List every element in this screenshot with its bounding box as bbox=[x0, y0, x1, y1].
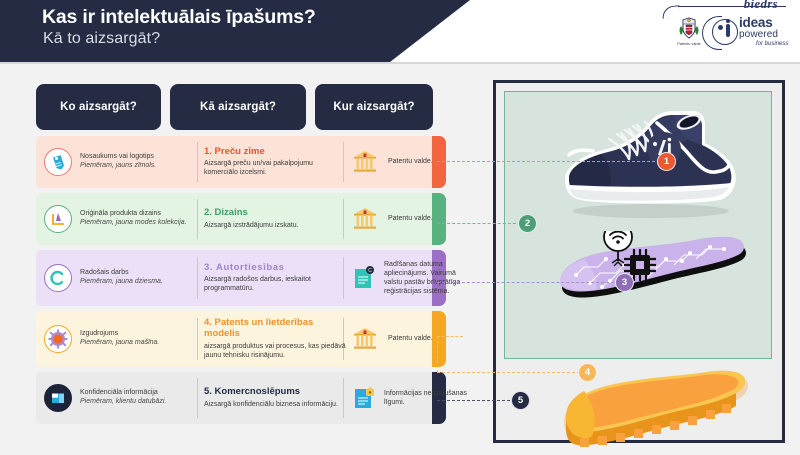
cell-where: Informācijas neizpaušanas līgumi. bbox=[352, 372, 470, 424]
what-main-text: Izgudrojums bbox=[80, 330, 159, 339]
connector-line-4-segment-b bbox=[437, 336, 438, 373]
column-header-where: Kur aizsargāt? bbox=[315, 84, 433, 130]
copyright-document-icon: C bbox=[352, 265, 376, 291]
where-text: Radīšanas datuma apliecinājums. Vairumā … bbox=[384, 260, 470, 296]
illustration-panel bbox=[493, 80, 785, 443]
page-title: Kas ir intelektuālais īpašums? bbox=[42, 6, 316, 29]
what-text: Izgudrojums Piemēram, jauna mašīna. bbox=[80, 330, 159, 348]
what-text: Radošais darbs Piemēram, jauna dziesma. bbox=[80, 269, 163, 287]
how-title: 2. Dizains bbox=[204, 208, 299, 219]
what-text: Konfidenciāla informācija Piemēram, klie… bbox=[80, 389, 166, 407]
where-text: Patentu valde. bbox=[388, 334, 433, 343]
cell-how: 2. Dizains Aizsargā izstrādājumu izskatu… bbox=[204, 193, 346, 245]
cell-where: Patentu valde. bbox=[352, 311, 470, 367]
bank-building-icon bbox=[352, 207, 378, 231]
latvian-coat-of-arms-icon bbox=[676, 15, 702, 41]
ideas-powered-line1: ideas bbox=[739, 15, 773, 30]
what-main-text: Radošais darbs bbox=[80, 269, 163, 278]
connector-line-2 bbox=[437, 223, 521, 224]
table-row: Konfidenciāla informācija Piemēram, klie… bbox=[36, 372, 437, 424]
bank-building-icon bbox=[352, 150, 378, 174]
table-row: Oriģināla produkta dizains Piemēram, jau… bbox=[36, 193, 437, 245]
how-description: Aizsargā izstrādājumu izskatu. bbox=[204, 221, 299, 230]
cell-what: Konfidenciāla informācija Piemēram, klie… bbox=[44, 372, 196, 424]
what-text: Oriģināla produkta dizains Piemēram, jau… bbox=[80, 210, 187, 228]
column-header-how: Kā aizsargāt? bbox=[170, 84, 306, 130]
cell-divider bbox=[197, 142, 198, 182]
gear-invention-icon bbox=[44, 325, 72, 353]
cell-divider bbox=[197, 199, 198, 239]
marker-3[interactable]: 3 bbox=[615, 273, 634, 292]
header-divider bbox=[0, 62, 800, 64]
how-title: 4. Patents un lietderības modelis bbox=[204, 318, 346, 340]
how-title: 1. Preču zīme bbox=[204, 147, 346, 158]
connector-line-4-segment-c bbox=[437, 372, 585, 373]
what-main-text: Oriģināla produkta dizains bbox=[80, 210, 187, 219]
cell-how: 1. Preču zīme Aizsargā preču un/vai paka… bbox=[204, 136, 346, 188]
cell-what: Radošais darbs Piemēram, jauna dziesma. bbox=[44, 250, 196, 306]
cell-what: Izgudrojums Piemēram, jauna mašīna. bbox=[44, 311, 196, 367]
cell-where: C Radīšanas datuma apliecinājums. Vairum… bbox=[352, 250, 470, 306]
cell-divider bbox=[197, 318, 198, 361]
cell-how: 5. Komercnoslēpums Aizsargā konfidenciāl… bbox=[204, 372, 346, 424]
navy-sneaker-illustration bbox=[551, 97, 751, 222]
cell-where: Patentu valde. bbox=[352, 193, 470, 245]
ideas-powered-line2: powered bbox=[739, 29, 778, 40]
price-tag-icon bbox=[44, 148, 72, 176]
ring-dot-icon bbox=[718, 25, 723, 30]
ring-i-dot-icon bbox=[726, 19, 730, 23]
patent-office-logo-label: Patentu valde bbox=[668, 42, 710, 46]
ideas-powered-logo: ideas powered for business bbox=[712, 14, 792, 58]
table-row: Radošais darbs Piemēram, jauna dziesma. … bbox=[36, 250, 437, 306]
table-row: Izgudrojums Piemēram, jauna mašīna. 4. P… bbox=[36, 311, 437, 367]
cell-divider bbox=[197, 257, 198, 300]
confidential-folder-icon bbox=[44, 384, 72, 412]
smart-insole-illustration bbox=[554, 231, 754, 311]
cell-what: Oriģināla produkta dizains Piemēram, jau… bbox=[44, 193, 196, 245]
svg-text:C: C bbox=[368, 268, 372, 274]
locked-document-icon bbox=[352, 385, 376, 411]
what-example-text: Piemēram, jauna mašīna. bbox=[80, 339, 159, 348]
what-main-text: Konfidenciāla informācija bbox=[80, 389, 166, 398]
design-ruler-icon bbox=[44, 205, 72, 233]
connector-line-4-segment-a bbox=[437, 336, 463, 337]
where-text: Patentu valde. bbox=[388, 214, 433, 223]
page-header: Kas ir intelektuālais īpašums? Kā to aiz… bbox=[0, 0, 800, 62]
how-description: Aizsargā radošos darbus, ieskaitot progr… bbox=[204, 275, 346, 293]
ideas-powered-ring-icon bbox=[712, 19, 738, 45]
what-example-text: Piemēram, jauna dziesma. bbox=[80, 278, 163, 287]
ideas-powered-line3: for business bbox=[756, 41, 788, 47]
bank-building-icon bbox=[352, 327, 378, 351]
cell-what: Nosaukums vai logotips Piemēram, jauns z… bbox=[44, 136, 196, 188]
how-title: 5. Komercnoslēpums bbox=[204, 387, 338, 398]
marker-1[interactable]: 1 bbox=[657, 152, 676, 171]
how-description: Aizsargā konfidenciālu biznesa informāci… bbox=[204, 400, 338, 409]
how-description: Aizsargā preču un/vai pakalpojumu komerc… bbox=[204, 159, 346, 177]
cell-divider bbox=[197, 378, 198, 418]
table-column-headers: Ko aizsargāt? Kā aizsargāt? Kur aizsargā… bbox=[0, 84, 480, 130]
copyright-icon bbox=[44, 264, 72, 292]
how-description: aizsargā produktus vai procesus, kas pie… bbox=[204, 342, 346, 360]
what-main-text: Nosaukums vai logotips bbox=[80, 153, 156, 162]
where-text: Patentu valde. bbox=[388, 157, 433, 166]
marker-2[interactable]: 2 bbox=[518, 214, 537, 233]
page-subtitle: Kā to aizsargāt? bbox=[43, 30, 160, 48]
how-title: 3. Autortiesības bbox=[204, 263, 346, 274]
what-text: Nosaukums vai logotips Piemēram, jauns z… bbox=[80, 153, 156, 171]
ring-i-stem-icon bbox=[726, 24, 730, 37]
column-header-what: Ko aizsargāt? bbox=[36, 84, 161, 130]
what-example-text: Piemēram, klientu datubāzi. bbox=[80, 398, 166, 407]
what-example-text: Piemēram, jauna modes kolekcija. bbox=[80, 219, 187, 228]
cell-how: 3. Autortiesības Aizsargā radošos darbus… bbox=[204, 250, 346, 306]
member-badge-label: biedrs bbox=[744, 0, 778, 12]
what-example-text: Piemēram, jauns zīmols. bbox=[80, 162, 156, 171]
table-row: Nosaukums vai logotips Piemēram, jauns z… bbox=[36, 136, 437, 188]
connector-line-3 bbox=[437, 282, 619, 283]
marker-4[interactable]: 4 bbox=[578, 363, 597, 382]
marker-5[interactable]: 5 bbox=[511, 391, 530, 410]
connector-line-5 bbox=[437, 400, 515, 401]
connector-line-1 bbox=[437, 161, 665, 162]
where-text: Informācijas neizpaušanas līgumi. bbox=[384, 389, 470, 407]
cell-how: 4. Patents un lietderības modelis aizsar… bbox=[204, 311, 346, 367]
cell-where: Patentu valde. bbox=[352, 136, 470, 188]
